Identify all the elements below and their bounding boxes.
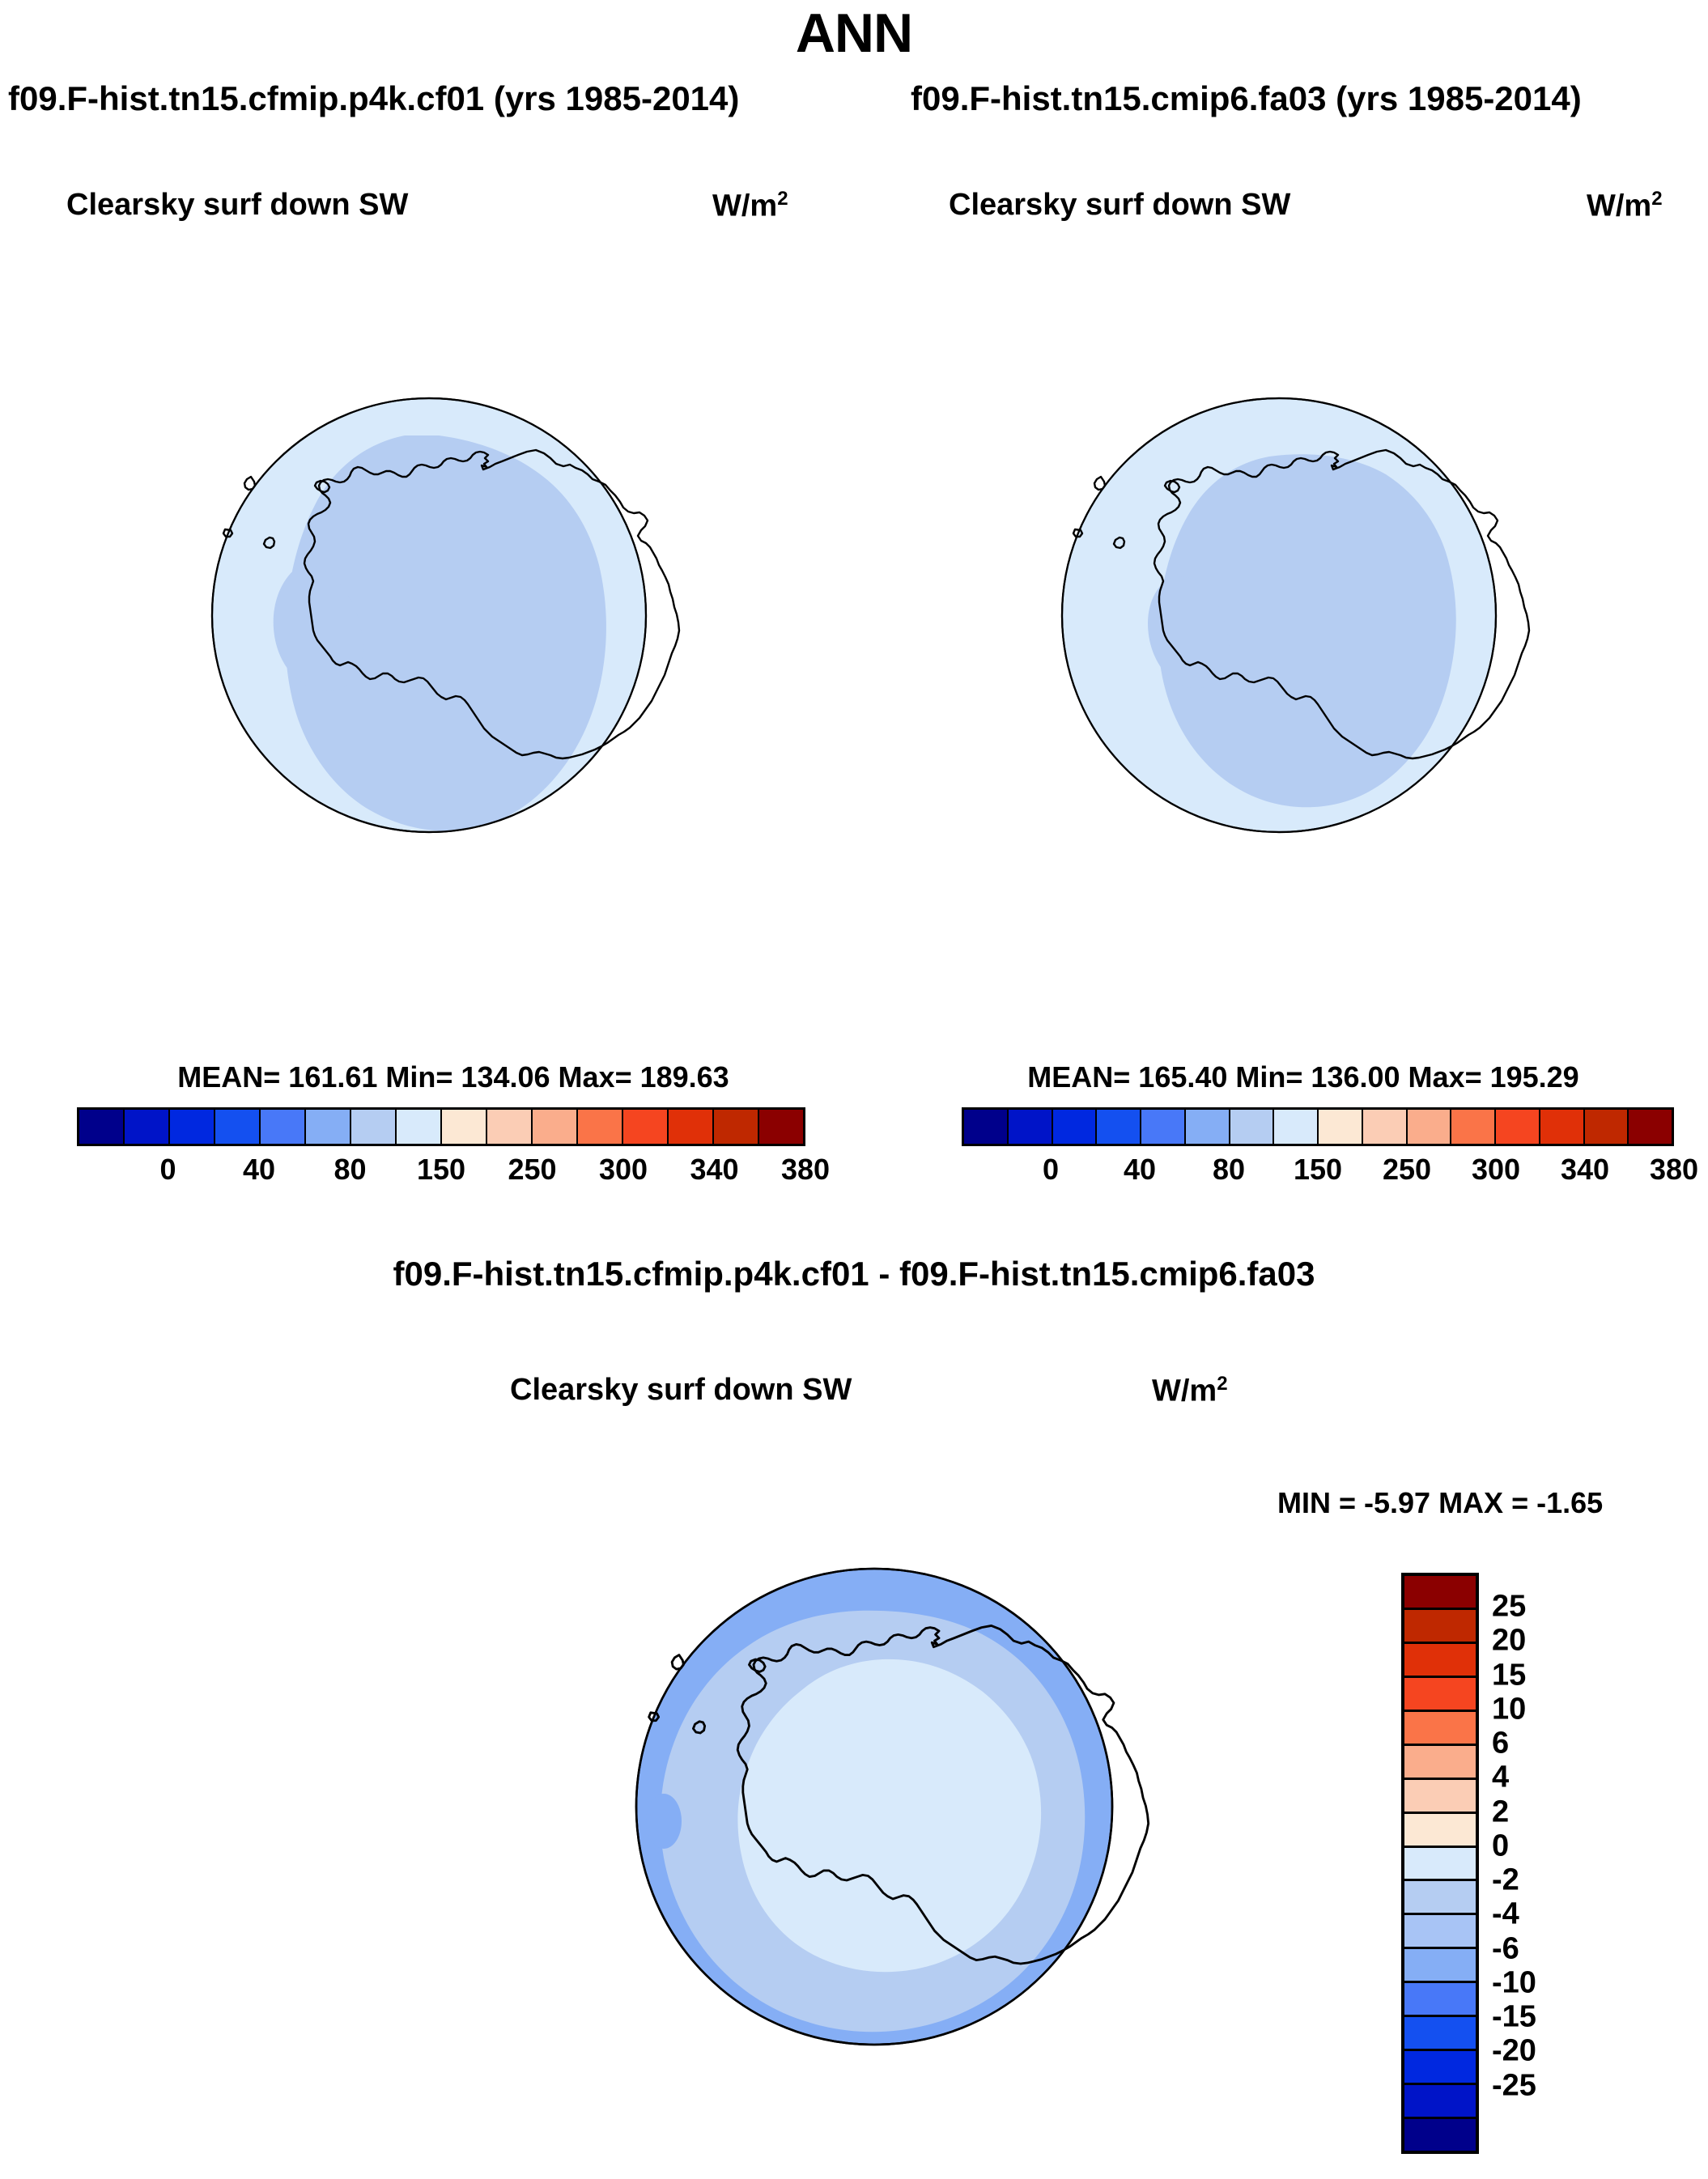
case-title-left: f09.F-hist.tn15.cfmip.p4k.cf01 (yrs 1985…	[8, 79, 739, 118]
colorbar-tick-label: 80	[334, 1153, 366, 1187]
colorbar-cell	[623, 1110, 669, 1144]
colorbar-cell	[351, 1110, 397, 1144]
colorbar-cell	[1404, 1644, 1476, 1678]
colorbar-cell	[1186, 1110, 1230, 1144]
colorbar-cell	[1585, 1110, 1629, 1144]
colorbar-tick-label: 380	[781, 1153, 830, 1187]
stats-left: MEAN= 161.61 Min= 134.06 Max= 189.63	[49, 1060, 858, 1094]
colorbar-cell	[442, 1110, 487, 1144]
minmax-diff: MIN = -5.97 MAX = -1.65	[1277, 1486, 1603, 1520]
map-diff-svg	[502, 1441, 1247, 2179]
units-label-left: W/m2	[712, 188, 788, 224]
colorbar-cell	[397, 1110, 442, 1144]
map-left-svg	[81, 267, 777, 963]
map-diff	[502, 1441, 1247, 2179]
colorbar-cell	[578, 1110, 623, 1144]
units-text-diff: W/m	[1152, 1374, 1217, 1408]
colorbar-cell	[1404, 2119, 1476, 2151]
variable-label-right: Clearsky surf down SW	[949, 188, 1290, 223]
colorbar-cell	[1404, 1576, 1476, 1610]
colorbar-cell	[669, 1110, 714, 1144]
colorbar-tick-label: 340	[1561, 1153, 1609, 1187]
colorbar-right-labels: 04080150250300340380	[962, 1153, 1674, 1190]
map-right-svg	[931, 267, 1627, 963]
units-text-left: W/m	[712, 189, 777, 223]
map-left	[81, 267, 777, 963]
page-title: ANN	[0, 2, 1708, 65]
colorbar-tick-label: -20	[1492, 2034, 1536, 2069]
colorbar-tick-label: -25	[1492, 2068, 1536, 2103]
colorbar-tick-label: -15	[1492, 2000, 1536, 2035]
stats-right: MEAN= 165.40 Min= 136.00 Max= 195.29	[899, 1060, 1708, 1094]
colorbar-cell	[533, 1110, 578, 1144]
colorbar-cell	[1629, 1110, 1672, 1144]
colorbar-diff-labels: 252015106420-2-4-6-10-15-20-25	[1492, 1573, 1670, 2154]
colorbar-tick-label: 40	[243, 1153, 275, 1187]
units-exponent-left: 2	[777, 188, 788, 210]
colorbar-cell	[1404, 1881, 1476, 1915]
colorbar-cell	[759, 1110, 803, 1144]
colorbar-cell	[1408, 1110, 1452, 1144]
colorbar-tick-label: 250	[508, 1153, 556, 1187]
colorbar-cell	[1404, 2017, 1476, 2051]
colorbar-cell	[1404, 1949, 1476, 1983]
colorbar-tick-label: -2	[1492, 1863, 1519, 1898]
colorbar-cell	[215, 1110, 261, 1144]
colorbar-tick-label: 0	[1492, 1829, 1509, 1863]
colorbar-tick-label: 80	[1213, 1153, 1245, 1187]
colorbar-tick-label: 300	[1472, 1153, 1520, 1187]
colorbar-tick-label: 300	[599, 1153, 648, 1187]
colorbar-cell	[170, 1110, 215, 1144]
colorbar-cell	[1404, 1610, 1476, 1644]
colorbar-tick-label: 150	[1294, 1153, 1342, 1187]
colorbar-tick-label: 0	[159, 1153, 176, 1187]
colorbar-cell	[1097, 1110, 1141, 1144]
case-title-right: f09.F-hist.tn15.cmip6.fa03 (yrs 1985-201…	[911, 79, 1582, 118]
colorbar-tick-label: 340	[690, 1153, 738, 1187]
colorbar-left	[77, 1107, 805, 1146]
colorbar-cell	[125, 1110, 170, 1144]
colorbar-tick-label: 0	[1043, 1153, 1059, 1187]
colorbar-tick-label: -6	[1492, 1931, 1519, 1966]
colorbar-cell	[1404, 1814, 1476, 1848]
colorbar-tick-label: 40	[1124, 1153, 1156, 1187]
colorbar-cell	[1274, 1110, 1319, 1144]
units-text-right: W/m	[1587, 189, 1651, 223]
colorbar-cell	[1496, 1110, 1540, 1144]
colorbar-tick-label: 2	[1492, 1795, 1509, 1829]
colorbar-cell	[487, 1110, 533, 1144]
case-title-diff: f09.F-hist.tn15.cfmip.p4k.cf01 - f09.F-h…	[0, 1255, 1708, 1293]
colorbar-cell	[1404, 1712, 1476, 1746]
variable-label-diff: Clearsky surf down SW	[510, 1373, 852, 1408]
colorbar-cell	[1404, 2085, 1476, 2119]
colorbar-tick-label: 380	[1650, 1153, 1698, 1187]
colorbar-tick-label: 6	[1492, 1727, 1509, 1761]
colorbar-cell	[1404, 1746, 1476, 1780]
variable-label-left: Clearsky surf down SW	[66, 188, 408, 223]
units-exponent-diff: 2	[1217, 1373, 1227, 1395]
colorbar-tick-label: -10	[1492, 1965, 1536, 2000]
colorbar-cell	[1540, 1110, 1585, 1144]
colorbar-cell	[1404, 1780, 1476, 1814]
colorbar-cell	[1009, 1110, 1053, 1144]
colorbar-cell	[1404, 2051, 1476, 2085]
colorbar-cell	[1053, 1110, 1098, 1144]
colorbar-tick-label: 20	[1492, 1624, 1526, 1659]
colorbar-cell	[1363, 1110, 1408, 1144]
colorbar-cell	[1404, 1848, 1476, 1882]
colorbar-cell	[306, 1110, 351, 1144]
colorbar-cell	[714, 1110, 759, 1144]
colorbar-tick-label: 150	[417, 1153, 465, 1187]
colorbar-cell	[1451, 1110, 1496, 1144]
colorbar-cell	[79, 1110, 125, 1144]
colorbar-cell	[261, 1110, 306, 1144]
colorbar-tick-label: 250	[1383, 1153, 1431, 1187]
colorbar-diff	[1401, 1573, 1479, 2154]
units-label-right: W/m2	[1587, 188, 1663, 224]
colorbar-cell	[1404, 1915, 1476, 1949]
units-label-diff: W/m2	[1152, 1373, 1228, 1409]
colorbar-tick-label: -4	[1492, 1897, 1519, 1932]
colorbar-tick-label: 4	[1492, 1761, 1509, 1795]
colorbar-cell	[1404, 1983, 1476, 2017]
map-right	[931, 267, 1627, 963]
colorbar-right	[962, 1107, 1674, 1146]
colorbar-tick-label: 25	[1492, 1590, 1526, 1625]
colorbar-tick-label: 15	[1492, 1658, 1526, 1693]
units-exponent-right: 2	[1651, 188, 1662, 210]
colorbar-left-labels: 04080150250300340380	[77, 1153, 805, 1190]
colorbar-cell	[1230, 1110, 1275, 1144]
colorbar-cell	[1319, 1110, 1363, 1144]
colorbar-cell	[964, 1110, 1009, 1144]
colorbar-cell	[1141, 1110, 1186, 1144]
colorbar-cell	[1404, 1678, 1476, 1712]
colorbar-tick-label: 10	[1492, 1692, 1526, 1727]
